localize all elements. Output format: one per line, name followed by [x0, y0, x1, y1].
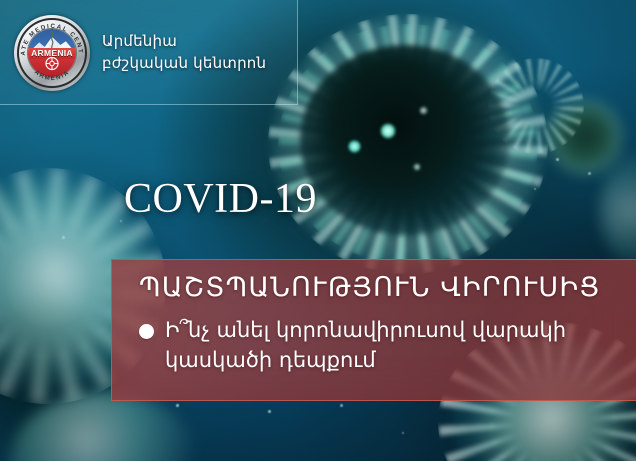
logo-shield: ARMENIA	[27, 28, 77, 78]
list-item-label: Ի՞նչ անել կորոնավիրուսով վարակի կասկածի …	[165, 316, 595, 376]
banner-heading: ՊԱՇՏՊԱՆՈՒԹՅՈՒՆ ՎԻՐՈՒՍԻՑ	[139, 272, 601, 303]
armenia-medical-center-logo-icon: STATE MEDICAL CENTER ARMENIA	[14, 15, 90, 91]
armenian-eternity-emblem-icon	[45, 56, 60, 71]
organization-name-line2: բժշկական կենտրոն	[102, 53, 266, 75]
covid19-poster: STATE MEDICAL CENTER ARMENIA	[0, 0, 636, 461]
header-branding: STATE MEDICAL CENTER ARMENIA	[0, 0, 298, 105]
protection-banner: ՊԱՇՏՊԱՆՈՒԹՅՈՒՆ ՎԻՐՈՒՍԻՑ Ի՞նչ անել կորոնա…	[111, 259, 636, 401]
list-item: Ի՞նչ անել կորոնավիրուսով վարակի կասկածի …	[139, 316, 620, 376]
banner-bullet-list: Ի՞նչ անել կորոնավիրուսով վարակի կասկածի …	[139, 316, 620, 376]
filled-circle-bullet-icon	[139, 324, 154, 339]
covid19-title: COVID-19	[124, 175, 317, 223]
organization-name: Արմենիա բժշկական կենտրոն	[102, 31, 266, 75]
organization-name-line1: Արմենիա	[102, 31, 266, 53]
